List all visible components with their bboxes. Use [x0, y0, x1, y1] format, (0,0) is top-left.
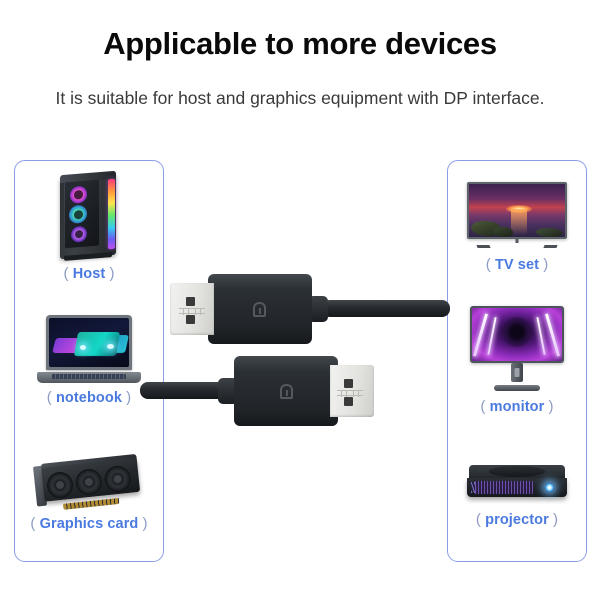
device-label: notebook: [56, 390, 122, 406]
device-label: monitor: [490, 399, 545, 415]
device-label: Graphics card: [40, 516, 139, 532]
open-paren: (: [480, 398, 485, 415]
open-paren: (: [30, 515, 35, 532]
dp-logo-icon: [253, 302, 266, 317]
laptop-gaming-icon: [37, 315, 141, 383]
connector-notch: [179, 308, 205, 314]
device-cell-tv-set[interactable]: ( TV set ): [448, 161, 586, 294]
product-infographic: Applicable to more devices It is suitabl…: [0, 0, 600, 600]
connector-notch: [337, 390, 363, 396]
gpu-triple-fan-icon: [35, 457, 143, 509]
dp-logo-icon: [280, 384, 293, 399]
close-paren: ): [109, 265, 114, 282]
computer-monitor-stand-icon: [470, 306, 564, 392]
page-title: Applicable to more devices: [0, 26, 600, 62]
open-paren: (: [47, 389, 52, 406]
cable-wire: [322, 300, 450, 317]
connector-contact: [186, 315, 195, 324]
close-paren: ): [543, 256, 548, 273]
device-label: projector: [485, 512, 549, 528]
close-paren: ): [126, 389, 131, 406]
device-label: Host: [73, 266, 106, 282]
connector-contact: [186, 297, 195, 306]
device-cell-projector[interactable]: ( projector ): [448, 428, 586, 561]
device-caption-projector: ( projector ): [476, 511, 558, 528]
device-caption-monitor: ( monitor ): [480, 398, 553, 415]
close-paren: ): [548, 398, 553, 415]
device-caption-host: ( Host ): [63, 265, 114, 282]
open-paren: (: [486, 256, 491, 273]
desktop-pc-tower-rgb-icon: [52, 173, 126, 259]
projector-box-icon: [467, 461, 567, 505]
device-caption-tv-set: ( TV set ): [486, 256, 549, 273]
television-widescreen-icon: [467, 182, 567, 250]
close-paren: ): [143, 515, 148, 532]
open-paren: (: [476, 511, 481, 528]
close-paren: ): [553, 511, 558, 528]
device-caption-notebook: ( notebook ): [47, 389, 132, 406]
device-cell-graphics-card[interactable]: ( Graphics card ): [15, 428, 163, 561]
device-label: TV set: [495, 257, 539, 273]
displayport-cable: [164, 262, 444, 442]
device-caption-graphics-card: ( Graphics card ): [30, 515, 147, 532]
connector-contact: [344, 379, 353, 388]
device-cell-host[interactable]: ( Host ): [15, 161, 163, 294]
device-cell-monitor[interactable]: ( monitor ): [448, 294, 586, 427]
connector-contact: [344, 397, 353, 406]
display-devices-panel: ( TV set ): [447, 160, 587, 562]
source-devices-panel: ( Host ): [14, 160, 164, 562]
open-paren: (: [63, 265, 68, 282]
device-cell-notebook[interactable]: ( notebook ): [15, 294, 163, 427]
page-subtitle: It is suitable for host and graphics equ…: [50, 86, 550, 111]
